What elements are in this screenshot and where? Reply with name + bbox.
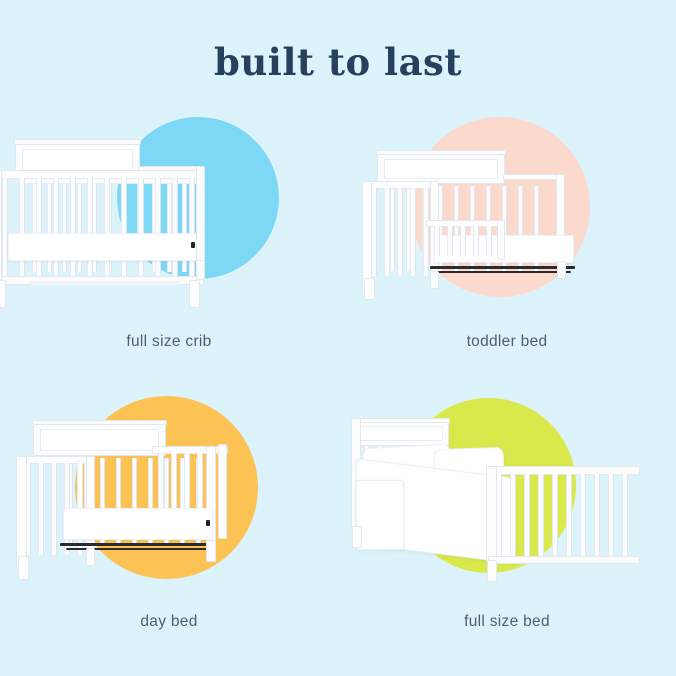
crib-leg-front-left [0, 280, 6, 308]
daybed-leg-front-right [206, 540, 216, 562]
toddler-leg-front-left [364, 278, 375, 300]
crib-base-shadow [30, 281, 180, 285]
product-caption: toddler bed [338, 333, 676, 351]
crib-leg-back-right [196, 258, 205, 280]
fullbed-footboard-left-post [486, 466, 497, 562]
daybed-right-post-back [218, 444, 227, 539]
daybed-leg-back-left [86, 548, 95, 566]
page-title: built to last [0, 40, 676, 84]
fullbed-headboard-panel-inset [360, 426, 443, 441]
toddler-headboard-panel-inset [384, 159, 498, 179]
toddler-left-post-front [362, 181, 372, 291]
toddler-bed-figure [338, 108, 676, 333]
product-illustration-full-size-bed [338, 388, 676, 613]
product-caption: full size bed [338, 613, 676, 631]
toddler-leg-back-left [430, 271, 439, 289]
crib-right-end-post [196, 166, 205, 261]
daybed-leg-front-left [18, 556, 29, 580]
day-bed-figure [0, 388, 338, 613]
full-size-bed-figure [338, 388, 676, 613]
daybed-under-bed-rail [60, 543, 215, 546]
daybed-hardware-dot [206, 520, 210, 526]
fullbed-leg-head-left [352, 526, 362, 548]
product-illustration-full-size-crib [0, 108, 338, 333]
product-card-toddler-bed: toddler bed [338, 108, 676, 388]
fullbed-footboard-bottom-rail [488, 556, 640, 564]
crib-headboard-top-rail [14, 139, 141, 145]
daybed-left-post-back [86, 456, 95, 556]
daybed-mattress [63, 508, 213, 540]
toddler-guard-rail-end-post [497, 220, 505, 260]
toddler-leg-right [557, 261, 566, 279]
crib-hardware-dot [191, 242, 195, 248]
product-illustration-day-bed [0, 388, 338, 613]
product-card-day-bed: day bed [0, 388, 338, 668]
product-caption: full size crib [0, 333, 338, 351]
crib-left-end-post [0, 170, 2, 280]
daybed-headboard-panel-inset [40, 429, 159, 451]
fullbed-duvet-side-drop [356, 480, 404, 550]
toddler-under-bed-rail-2 [436, 271, 571, 273]
crib-figure [0, 108, 338, 333]
product-illustration-toddler-bed [338, 108, 676, 333]
product-caption: day bed [0, 613, 338, 631]
toddler-back-top-rail [503, 174, 563, 180]
product-card-full-size-bed: full size bed [338, 388, 676, 668]
daybed-left-post-front [16, 456, 27, 568]
crib-mattress [8, 233, 198, 261]
fullbed-leg-foot-left [487, 560, 497, 582]
infographic-page: built to last [0, 0, 676, 676]
product-card-full-size-crib: full size crib [0, 108, 338, 388]
crib-leg-front-right [189, 280, 200, 308]
toddler-under-bed-rail [430, 266, 575, 269]
